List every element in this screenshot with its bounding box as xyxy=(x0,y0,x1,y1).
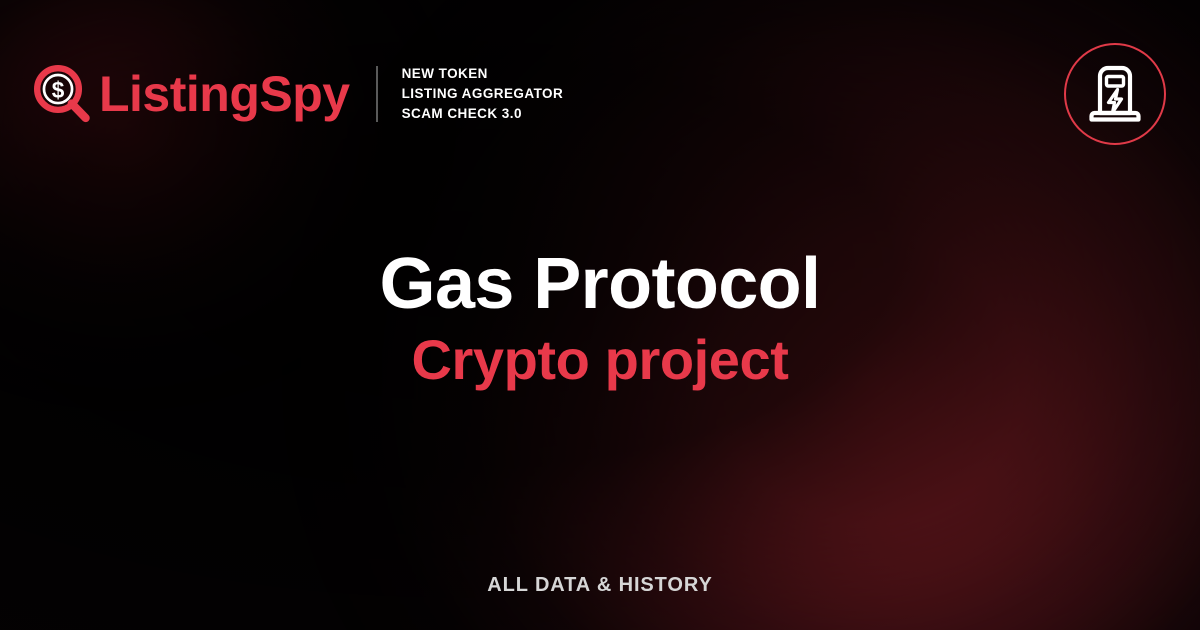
tagline-line-2: LISTING AGGREGATOR xyxy=(402,85,564,103)
project-badge xyxy=(1064,43,1166,145)
gas-station-bolt-icon xyxy=(1086,62,1144,126)
page-title: Gas Protocol xyxy=(0,248,1200,321)
brand-wordmark: ListingSpy xyxy=(99,69,350,119)
footer-caption: ALL DATA & HISTORY xyxy=(0,574,1200,597)
tagline-line-3: SCAM CHECK 3.0 xyxy=(402,105,564,123)
banner-footer: ALL DATA & HISTORY xyxy=(0,574,1200,597)
magnifier-dollar-icon: $ xyxy=(34,65,92,123)
brand-tagline: NEW TOKEN LISTING AGGREGATOR SCAM CHECK … xyxy=(402,65,564,123)
brand-divider xyxy=(376,66,378,122)
page-subtitle: Crypto project xyxy=(0,331,1200,390)
brand-lockup[interactable]: $ ListingSpy NEW TOKEN LISTING AGGREGATO… xyxy=(34,65,563,123)
hero-block: Gas Protocol Crypto project xyxy=(0,248,1200,390)
banner-content: $ ListingSpy NEW TOKEN LISTING AGGREGATO… xyxy=(0,0,1200,630)
tagline-line-1: NEW TOKEN xyxy=(402,65,564,83)
banner-header: $ ListingSpy NEW TOKEN LISTING AGGREGATO… xyxy=(34,52,1166,136)
listingspy-banner: $ ListingSpy NEW TOKEN LISTING AGGREGATO… xyxy=(0,0,1200,630)
svg-text:$: $ xyxy=(52,77,65,103)
